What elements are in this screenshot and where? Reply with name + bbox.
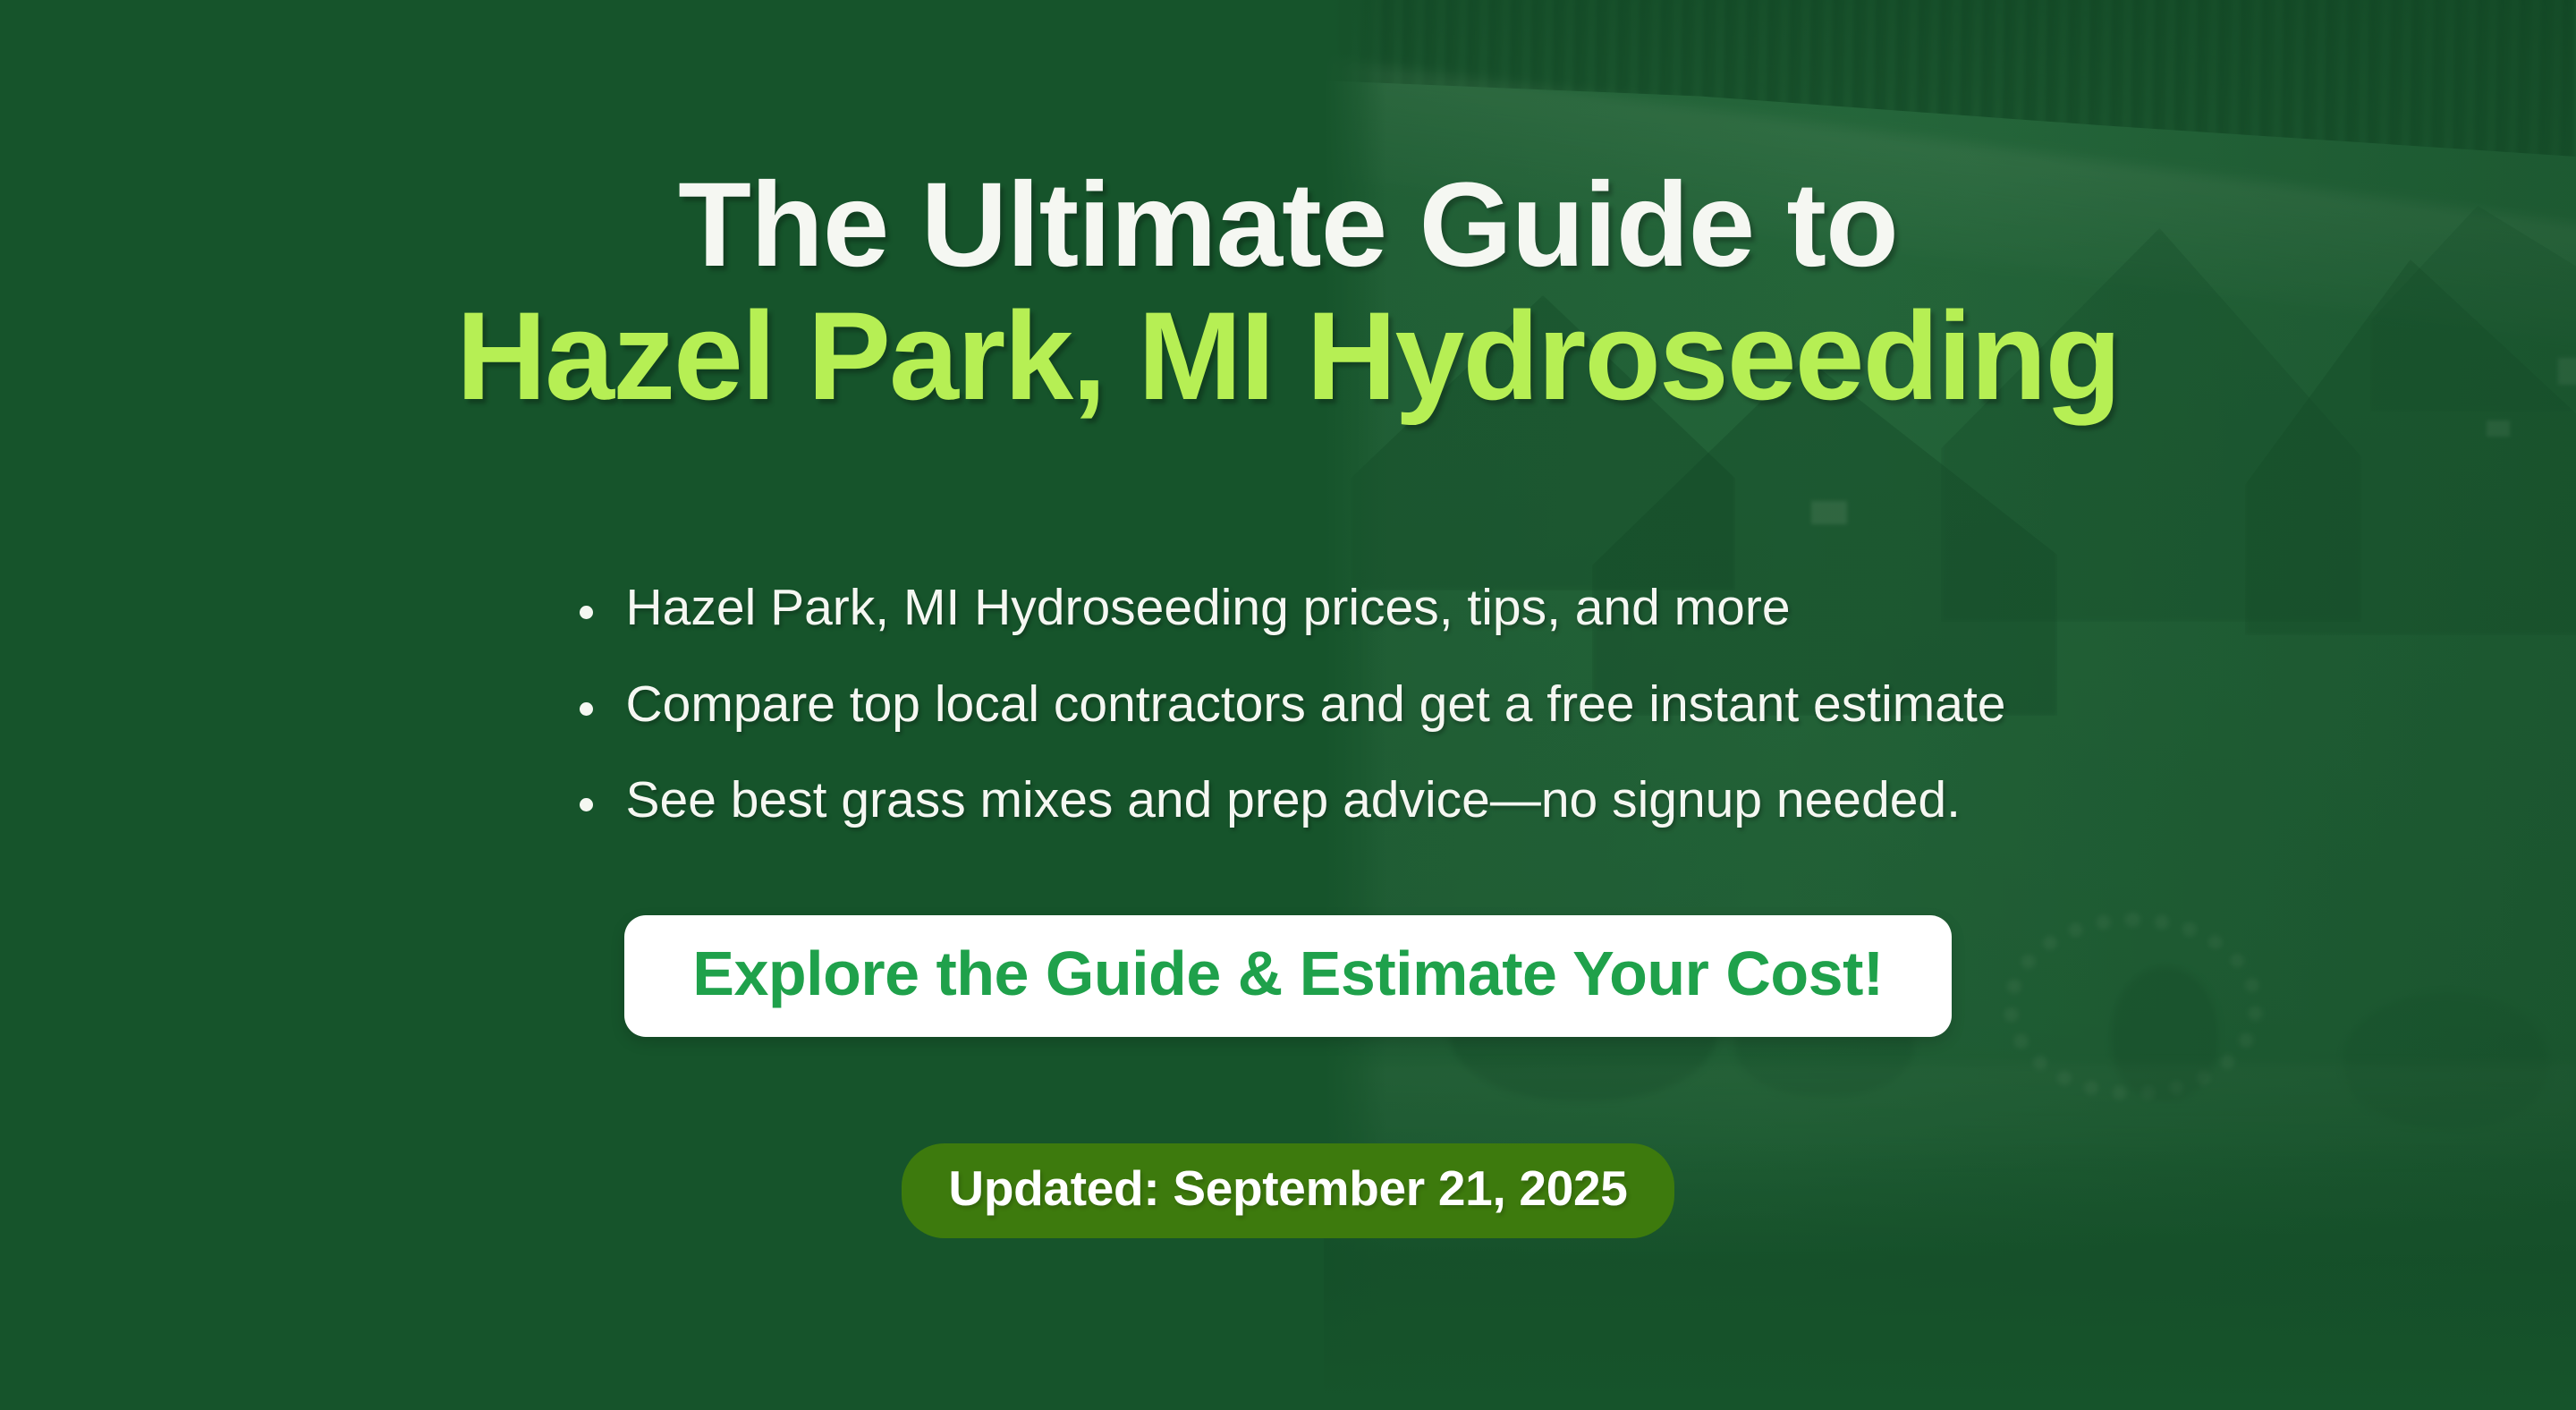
hero-content: The Ultimate Guide to Hazel Park, MI Hyd… [0, 0, 2576, 1410]
bullet-dot-icon [580, 798, 593, 811]
benefits-section: Hazel Park, MI Hydroseeding prices, tips… [0, 582, 2576, 827]
list-item-label: Hazel Park, MI Hydroseeding prices, tips… [626, 579, 1791, 636]
headline-line-location: Hazel Park, MI Hydroseeding [0, 289, 2576, 423]
bullet-dot-icon [580, 606, 593, 619]
benefits-list: Hazel Park, MI Hydroseeding prices, tips… [571, 582, 2006, 827]
headline-line-primary: The Ultimate Guide to [0, 161, 2576, 289]
badge-container: Updated: September 21, 2025 [0, 1143, 2576, 1238]
hero-banner: The Ultimate Guide to Hazel Park, MI Hyd… [0, 0, 2576, 1410]
list-item: Hazel Park, MI Hydroseeding prices, tips… [571, 582, 2006, 634]
last-updated-badge: Updated: September 21, 2025 [902, 1143, 1674, 1238]
list-item-label: Compare top local contractors and get a … [626, 675, 2006, 733]
list-item-label: See best grass mixes and prep advice—no … [626, 771, 1961, 828]
cta-container: Explore the Guide & Estimate Your Cost! [0, 915, 2576, 1037]
explore-guide-button[interactable]: Explore the Guide & Estimate Your Cost! [624, 915, 1952, 1037]
bullet-dot-icon [580, 702, 593, 716]
list-item: Compare top local contractors and get a … [571, 678, 2006, 731]
page-title: The Ultimate Guide to Hazel Park, MI Hyd… [0, 161, 2576, 423]
list-item: See best grass mixes and prep advice—no … [571, 774, 2006, 827]
